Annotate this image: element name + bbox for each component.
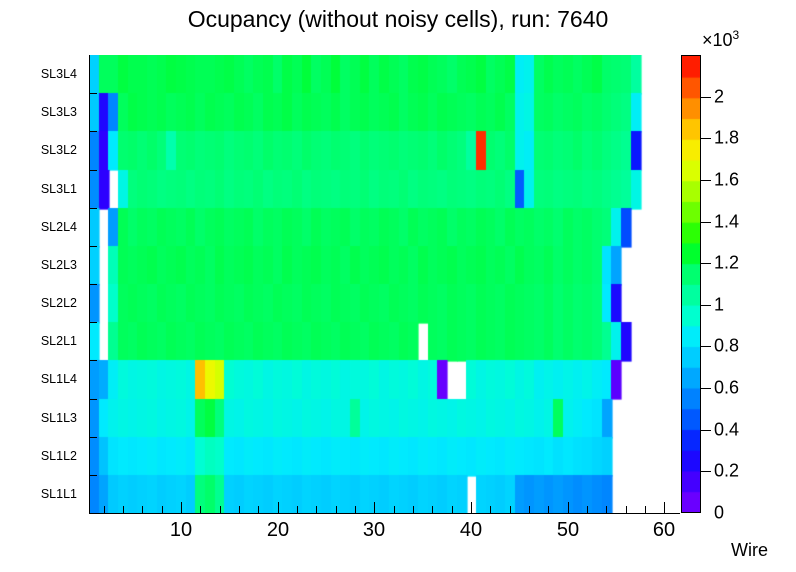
x-axis-minor-tick (239, 506, 240, 513)
colorbar-label-2: 2 (714, 87, 724, 108)
y-axis-label-sl3l4: SL3L4 (41, 67, 77, 81)
y-axis-tick (89, 208, 97, 209)
colorbar-label-0p6: 0.6 (714, 378, 739, 399)
colorbar-tick (701, 346, 711, 347)
x-axis-minor-tick (452, 506, 453, 513)
x-axis-major-tick (181, 502, 182, 513)
y-axis-label-sl1l4: SL1L4 (41, 372, 77, 386)
x-axis-tick-label-10: 10 (170, 519, 192, 542)
y-axis-label-sl1l3: SL1L3 (41, 411, 77, 425)
colorbar-label-0p8: 0.8 (714, 336, 739, 357)
x-axis-major-tick (374, 502, 375, 513)
page-title: Ocupancy (without noisy cells), run: 764… (0, 6, 796, 33)
y-axis-label-sl2l3: SL2L3 (41, 258, 77, 272)
colorbar-tick (701, 305, 711, 306)
x-axis-minor-tick (432, 506, 433, 513)
x-axis-tick-label-30: 30 (363, 519, 385, 542)
x-axis-minor-tick (645, 506, 646, 513)
x-axis-minor-tick (297, 506, 298, 513)
x-axis-tick-label-60: 60 (653, 519, 675, 542)
x-axis-minor-tick (606, 506, 607, 513)
colorbar-tick (701, 222, 711, 223)
y-axis-label-sl2l1: SL2L1 (41, 334, 77, 348)
y-axis-label-sl1l2: SL1L2 (41, 449, 77, 463)
x-axis-minor-tick (626, 506, 627, 513)
colorbar-label-1p8: 1.8 (714, 128, 739, 149)
x-axis-minor-tick (104, 506, 105, 513)
y-axis-label-sl3l1: SL3L1 (41, 182, 77, 196)
x-axis-minor-tick (355, 506, 356, 513)
x-axis-major-tick (278, 502, 279, 513)
y-axis-tick (89, 284, 97, 285)
y-axis-label-sl2l2: SL2L2 (41, 296, 77, 310)
x-axis-minor-tick (336, 506, 337, 513)
colorbar-tick (701, 430, 711, 431)
x-axis-minor-tick (316, 506, 317, 513)
x-axis-minor-tick (162, 506, 163, 513)
y-axis-tick (89, 246, 97, 247)
x-axis-minor-tick (123, 506, 124, 513)
colorbar-tick (701, 263, 711, 264)
y-axis-tick (89, 131, 97, 132)
x-axis-minor-tick (490, 506, 491, 513)
y-axis-labels: SL3L4SL3L3SL3L2SL3L1SL2L4SL2L3SL2L2SL2L1… (0, 55, 86, 513)
heatmap-plot-area[interactable] (89, 55, 679, 513)
colorbar-tick (701, 471, 711, 472)
x-axis-major-tick (471, 502, 472, 513)
y-axis-tick (89, 437, 97, 438)
colorbar-label-0: 0 (714, 503, 724, 524)
x-axis-line (89, 513, 680, 514)
root-canvas: Ocupancy (without noisy cells), run: 764… (0, 0, 796, 572)
x-axis-minor-tick (200, 506, 201, 513)
colorbar-label-0p4: 0.4 (714, 420, 739, 441)
x-axis-minor-tick (529, 506, 530, 513)
colorbar-label-1p2: 1.2 (714, 253, 739, 274)
colorbar-label-0p2: 0.2 (714, 461, 739, 482)
colorbar-tick (701, 180, 711, 181)
x-axis-minor-tick (258, 506, 259, 513)
x-axis-major-tick (664, 502, 665, 513)
y-axis-label-sl2l4: SL2L4 (41, 220, 77, 234)
y-axis-label-sl3l2: SL3L2 (41, 143, 77, 157)
x-axis-tick-label-20: 20 (267, 519, 289, 542)
y-axis-tick (89, 93, 97, 94)
y-axis-tick (89, 399, 97, 400)
x-axis-tick-label-40: 40 (460, 519, 482, 542)
x-axis-minor-tick (142, 506, 143, 513)
colorbar-exponent: ×103 (702, 28, 739, 51)
heatmap-canvas[interactable] (89, 55, 679, 513)
y-axis-tick (89, 170, 97, 171)
colorbar-label-1p6: 1.6 (714, 170, 739, 191)
x-axis-minor-tick (548, 506, 549, 513)
x-axis-tick-label-50: 50 (557, 519, 579, 542)
x-axis-minor-tick (587, 506, 588, 513)
colorbar-gradient (682, 56, 700, 512)
y-axis-label-sl1l1: SL1L1 (41, 487, 77, 501)
colorbar[interactable] (681, 55, 701, 513)
y-axis-tick (89, 322, 97, 323)
colorbar-tick (701, 388, 711, 389)
y-axis-label-sl3l3: SL3L3 (41, 105, 77, 119)
x-axis-minor-tick (394, 506, 395, 513)
colorbar-label-1p4: 1.4 (714, 212, 739, 233)
x-axis-title: Wire (731, 540, 768, 561)
y-axis-tick (89, 475, 97, 476)
x-axis-major-tick (568, 502, 569, 513)
colorbar-tick (701, 138, 711, 139)
colorbar-label-1: 1 (714, 295, 724, 316)
x-axis-minor-tick (220, 506, 221, 513)
x-axis-minor-tick (413, 506, 414, 513)
x-axis-minor-tick (510, 506, 511, 513)
colorbar-tick (701, 97, 711, 98)
y-axis-tick (89, 360, 97, 361)
